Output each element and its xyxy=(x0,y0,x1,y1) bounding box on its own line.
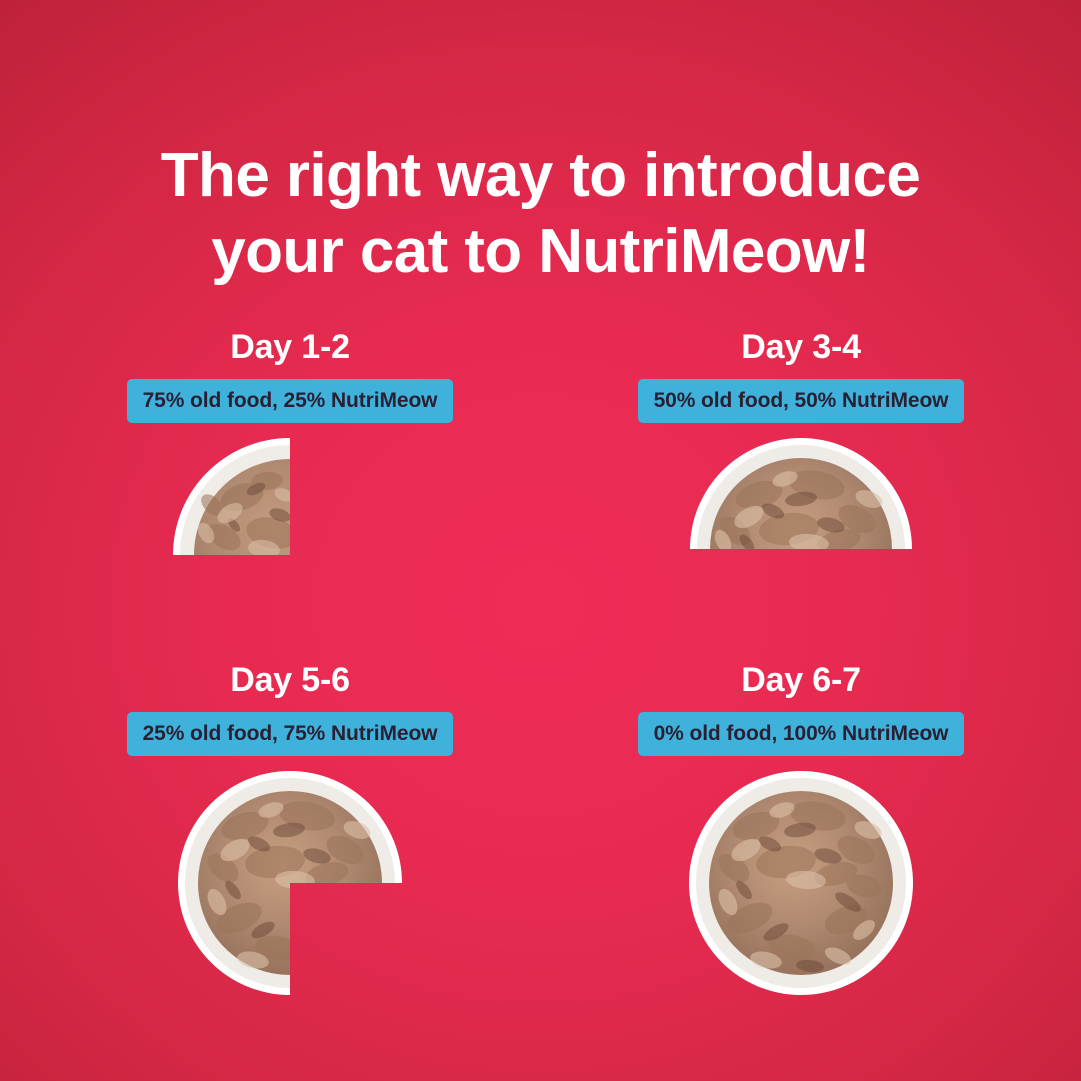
bowl-graphic-100 xyxy=(688,770,914,996)
bowl-half xyxy=(689,437,913,661)
step-ratio-badge: 25% old food, 75% NutriMeow xyxy=(127,712,454,756)
step-ratio-badge: 50% old food, 50% NutriMeow xyxy=(638,379,965,423)
step-badge-wrap: 0% old food, 100% NutriMeow xyxy=(551,712,1051,756)
step-day-1-2: Day 1-2 75% old food, 25% NutriMeow xyxy=(40,326,540,687)
bowl-full xyxy=(688,770,914,996)
steps-grid: Day 1-2 75% old food, 25% NutriMeow xyxy=(0,0,1081,1081)
step-heading: Day 5-6 xyxy=(40,659,540,701)
step-day-3-4: Day 3-4 50% old food, 50% NutriMeow xyxy=(551,326,1051,687)
bowl-graphic-75 xyxy=(177,770,403,996)
step-day-5-6: Day 5-6 25% old food, 75% NutriMeow xyxy=(40,659,540,1020)
step-heading: Day 1-2 xyxy=(40,326,540,368)
step-day-6-7: Day 6-7 0% old food, 100% NutriMeow xyxy=(551,659,1051,1020)
step-ratio-badge: 0% old food, 100% NutriMeow xyxy=(638,712,965,756)
step-heading: Day 3-4 xyxy=(551,326,1051,368)
step-badge-wrap: 50% old food, 50% NutriMeow xyxy=(551,379,1051,423)
bowl-area xyxy=(40,437,540,687)
step-ratio-badge: 75% old food, 25% NutriMeow xyxy=(127,379,454,423)
step-badge-wrap: 25% old food, 75% NutriMeow xyxy=(40,712,540,756)
bowl-area xyxy=(551,437,1051,687)
step-badge-wrap: 75% old food, 25% NutriMeow xyxy=(40,379,540,423)
bowl-graphic-50 xyxy=(689,437,913,661)
bowl-three-quarter xyxy=(177,770,403,996)
bowl-graphic-25 xyxy=(172,437,408,673)
bowl-area xyxy=(551,770,1051,1020)
infographic-canvas: The right way to introduce your cat to N… xyxy=(0,0,1081,1081)
bowl-quarter xyxy=(172,437,408,673)
step-heading: Day 6-7 xyxy=(551,659,1051,701)
bowl-area xyxy=(40,770,540,1020)
